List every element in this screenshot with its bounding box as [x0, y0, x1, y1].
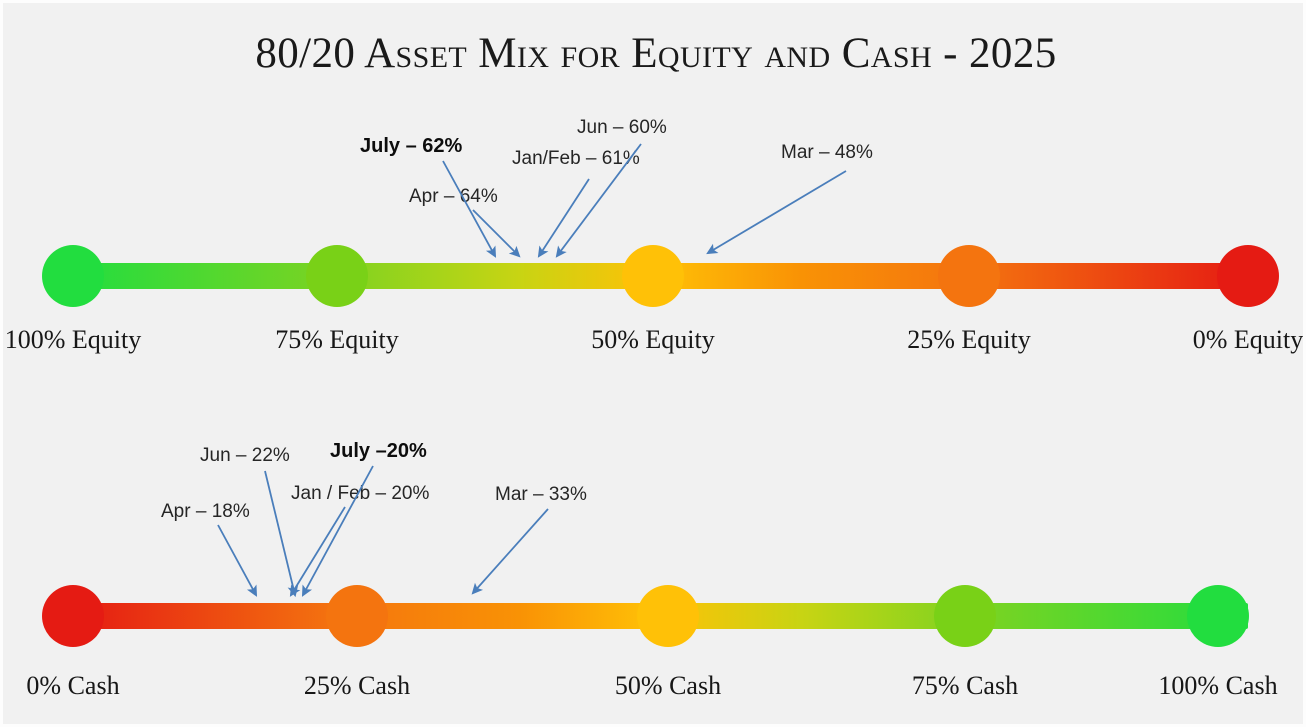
scale-node-cash-100[interactable]	[1187, 585, 1249, 647]
callout-label-jun-cash: Jun – 22%	[200, 445, 290, 467]
callout-arrow-janfeb-cash	[291, 507, 345, 595]
page-title: 80/20 Asset Mix for Equity and Cash - 20…	[3, 29, 1306, 78]
scale-node-cash-25[interactable]	[326, 585, 388, 647]
callout-arrow-apr-cash	[218, 525, 256, 595]
scale-node-equity-25[interactable]	[938, 245, 1000, 307]
scale-label-cash-100: 100% Cash	[1158, 671, 1277, 701]
scale-node-equity-75[interactable]	[306, 245, 368, 307]
callout-label-july-equity: July – 62%	[360, 135, 462, 158]
scale-label-cash-50: 50% Cash	[615, 671, 721, 701]
callout-arrow-july-equity	[443, 161, 495, 256]
callout-arrow-mar-cash	[473, 509, 548, 593]
scale-node-equity-50[interactable]	[622, 245, 684, 307]
callout-arrow-mar-equity	[708, 171, 846, 253]
callout-label-mar-cash: Mar – 33%	[495, 484, 587, 506]
scale-label-equity-75: 75% Equity	[275, 325, 399, 355]
callout-label-apr-cash: Apr – 18%	[161, 501, 250, 523]
callout-arrow-janfeb-equity	[539, 179, 589, 256]
scale-node-equity-100[interactable]	[42, 245, 104, 307]
scale-label-equity-100: 100% Equity	[5, 325, 142, 355]
callout-arrow-apr-equity	[473, 210, 519, 256]
slide-canvas: 80/20 Asset Mix for Equity and Cash - 20…	[0, 0, 1306, 727]
callout-label-mar-equity: Mar – 48%	[781, 142, 873, 164]
scale-label-equity-25: 25% Equity	[907, 325, 1031, 355]
callout-label-janfeb-equity: Jan/Feb – 61%	[512, 148, 640, 170]
scale-label-equity-50: 50% Equity	[591, 325, 715, 355]
scale-label-cash-75: 75% Cash	[912, 671, 1018, 701]
scale-node-equity-0[interactable]	[1217, 245, 1279, 307]
scale-node-cash-50[interactable]	[637, 585, 699, 647]
callout-label-apr-equity: Apr – 64%	[409, 186, 498, 208]
callout-label-jun-equity: Jun – 60%	[577, 117, 667, 139]
scale-node-cash-75[interactable]	[934, 585, 996, 647]
scale-node-cash-0[interactable]	[42, 585, 104, 647]
callout-label-janfeb-cash: Jan / Feb – 20%	[291, 483, 429, 505]
scale-label-cash-25: 25% Cash	[304, 671, 410, 701]
scale-label-equity-0: 0% Equity	[1193, 325, 1304, 355]
scale-label-cash-0: 0% Cash	[26, 671, 119, 701]
callout-label-july-cash: July –20%	[330, 440, 427, 463]
